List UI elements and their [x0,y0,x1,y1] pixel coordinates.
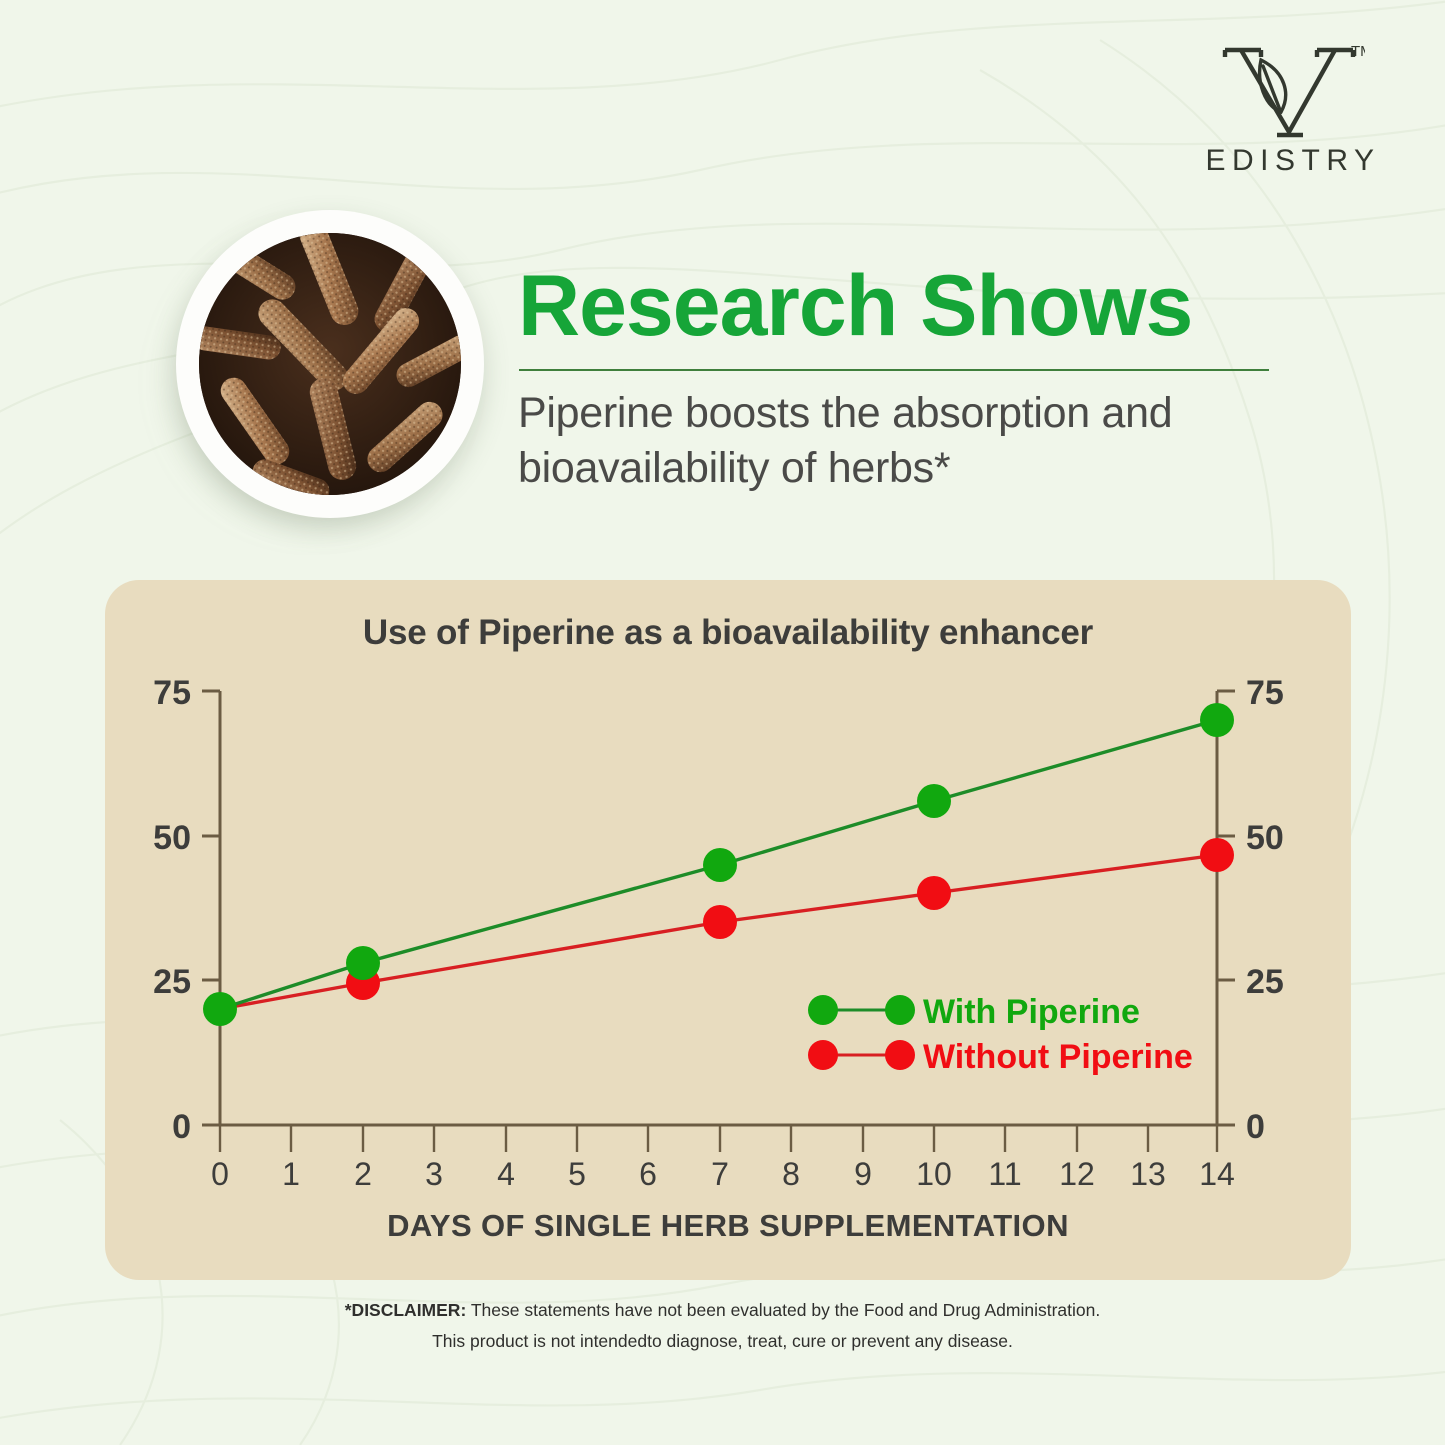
x-tick-label-12: 12 [1059,1156,1095,1192]
disclaimer-line-2: This product is not intendedto diagnose,… [0,1326,1445,1357]
page-subtitle: Piperine boosts the absorption and bioav… [518,386,1278,496]
legend-label-with-piperine: With Piperine [923,993,1140,1031]
data-point [917,876,951,910]
x-tick-label-13: 13 [1130,1156,1166,1192]
legend-marker-without-piperine-2 [885,1040,915,1070]
x-axis-title: DAYS OF SINGLE HERB SUPPLEMENTATION [105,1208,1351,1244]
line-chart: 75 50 25 0 75 50 25 0 [105,580,1351,1280]
x-tick-label-3: 3 [425,1156,443,1192]
x-tick-label-5: 5 [568,1156,586,1192]
data-point [1200,703,1234,737]
data-point [703,848,737,882]
data-point [1200,838,1234,872]
data-point [346,946,380,980]
page-title: Research Shows [518,263,1192,349]
legend-marker-without-piperine [808,1040,838,1070]
series-markers-with-piperine [203,703,1234,1026]
x-tick-label-4: 4 [497,1156,515,1192]
trademark-symbol: TM [1351,43,1365,60]
series-markers-without-piperine [346,838,1234,1000]
x-axis-labels: 0 1 2 3 4 5 6 7 8 9 10 11 12 13 14 [211,1156,1235,1192]
x-tick-label-1: 1 [282,1156,300,1192]
y-axis-ticks-left [202,691,220,1125]
y-axis-ticks-right [1217,691,1235,1125]
disclaimer-line-1: *DISCLAIMER: These statements have not b… [0,1295,1445,1326]
y-tick-label-left-50: 50 [153,819,191,857]
poster-root: TM EDISTRY [0,0,1445,1445]
x-tick-label-6: 6 [639,1156,657,1192]
x-tick-label-0: 0 [211,1156,229,1192]
data-point [703,905,737,939]
brand-wordmark: EDISTRY [1190,144,1390,178]
data-point [203,992,237,1026]
y-tick-label-right-25: 25 [1246,963,1284,1001]
y-tick-label-left-0: 0 [172,1108,191,1146]
brand-logo: TM EDISTRY [1190,34,1390,178]
x-axis-ticks [220,1125,1217,1152]
y-tick-label-left-25: 25 [153,963,191,1001]
y-tick-label-right-50: 50 [1246,819,1284,857]
x-tick-label-10: 10 [916,1156,952,1192]
chart-card: Use of Piperine as a bioavailability enh… [105,580,1351,1280]
legend-marker-with-piperine [808,995,838,1025]
y-axis-labels-right: 75 50 25 0 [1246,674,1284,1146]
x-tick-label-7: 7 [711,1156,729,1192]
line-chart-svg: 75 50 25 0 75 50 25 0 [105,580,1351,1280]
x-tick-label-14: 14 [1199,1156,1235,1192]
title-divider [519,369,1269,371]
legend-marker-with-piperine-2 [885,995,915,1025]
chart-legend: With Piperine Without Piperine [808,993,1193,1076]
x-tick-label-9: 9 [854,1156,872,1192]
disclaimer: *DISCLAIMER: These statements have not b… [0,1295,1445,1356]
y-tick-label-right-0: 0 [1246,1108,1265,1146]
y-axis-labels-left: 75 50 25 0 [153,674,191,1146]
leaf-in-v-monogram-icon: TM [1215,34,1365,142]
hero-image [176,210,484,518]
data-point [917,784,951,818]
x-tick-label-2: 2 [354,1156,372,1192]
x-tick-label-8: 8 [782,1156,800,1192]
disclaimer-label: *DISCLAIMER: [345,1300,467,1320]
disclaimer-text-1: These statements have not been evaluated… [466,1300,1100,1320]
x-tick-label-11: 11 [988,1156,1021,1192]
long-pepper-bowl-photo-icon [199,233,461,495]
legend-label-without-piperine: Without Piperine [923,1038,1193,1076]
y-tick-label-left-75: 75 [153,674,191,712]
y-tick-label-right-75: 75 [1246,674,1284,712]
